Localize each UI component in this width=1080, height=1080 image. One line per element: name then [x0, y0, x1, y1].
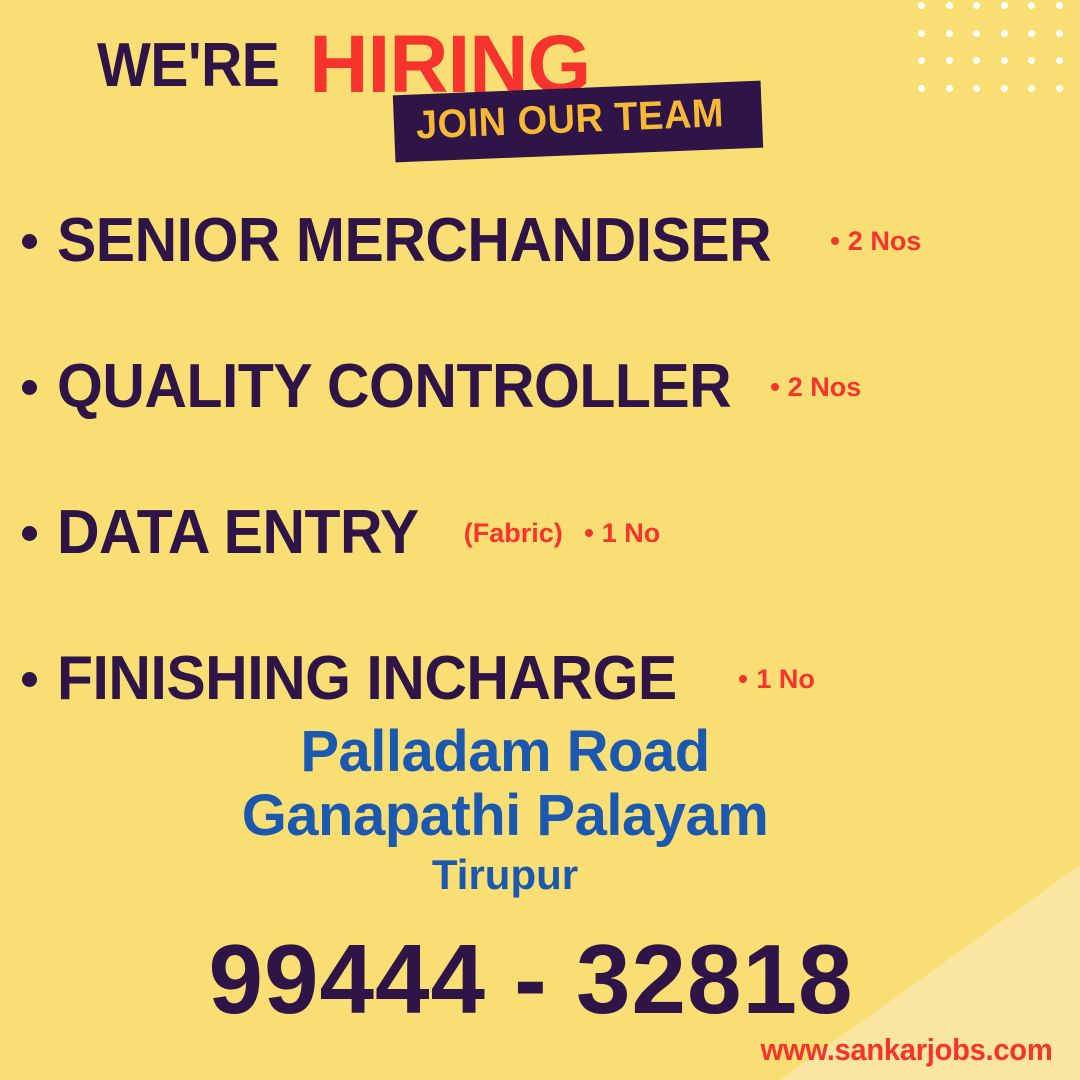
job-count: 1 No	[739, 666, 815, 693]
bullet-icon	[22, 234, 37, 249]
job-count: 1 No	[585, 520, 661, 547]
job-count-label: 1 No	[602, 520, 661, 547]
grid-dot	[973, 30, 980, 37]
grid-dot	[918, 85, 925, 92]
bullet-icon	[22, 526, 37, 541]
grid-dot	[946, 2, 953, 9]
grid-dot	[918, 2, 925, 9]
grid-dot	[918, 57, 925, 64]
grid-dot	[1056, 57, 1063, 64]
job-count: 2 Nos	[831, 228, 922, 255]
grid-dot	[1028, 30, 1035, 37]
grid-dot	[1028, 57, 1035, 64]
job-row: SENIOR MERCHANDISER 2 Nos	[0, 168, 1080, 314]
job-qualifier: (Fabric)	[464, 520, 563, 547]
count-bullet-icon	[585, 529, 593, 537]
job-title: DATA ENTRY	[57, 502, 419, 564]
job-title: FINISHING INCHARGE	[57, 648, 677, 710]
grid-dot	[918, 30, 925, 37]
grid-dot	[1056, 30, 1063, 37]
grid-dot	[1028, 85, 1035, 92]
dot-grid-decoration	[918, 2, 1080, 114]
bullet-icon	[22, 672, 37, 687]
address-block: Palladam Road Ganapathi Palayam Tirupur	[0, 722, 1010, 896]
join-our-team-label: JOIN OUR TEAM	[415, 91, 725, 148]
address-line-1: Palladam Road	[0, 722, 1010, 782]
grid-dot	[973, 85, 980, 92]
count-bullet-icon	[771, 383, 779, 391]
job-list: SENIOR MERCHANDISER 2 Nos QUALITY CONTRO…	[0, 168, 1080, 752]
job-row: DATA ENTRY (Fabric) 1 No	[0, 460, 1080, 606]
grid-dot	[1001, 57, 1008, 64]
job-count: 2 Nos	[771, 374, 862, 401]
grid-dot	[1001, 30, 1008, 37]
grid-dot	[1028, 2, 1035, 9]
job-title: QUALITY CONTROLLER	[57, 356, 731, 418]
grid-dot	[1056, 85, 1063, 92]
website-url: www.sankarjobs.com	[760, 1032, 1052, 1068]
address-line-3: Tirupur	[0, 853, 1010, 897]
job-count-label: 2 Nos	[848, 228, 922, 255]
count-bullet-icon	[831, 237, 839, 245]
grid-dot	[946, 57, 953, 64]
hiring-poster: WE'REHIRING JOIN OUR TEAM SENIOR MERCHAN…	[0, 0, 1080, 1080]
phone-number: 99444 - 32818	[0, 930, 1062, 1028]
grid-dot	[1056, 2, 1063, 9]
job-title: SENIOR MERCHANDISER	[57, 210, 771, 272]
bullet-icon	[22, 380, 37, 395]
grid-dot	[973, 2, 980, 9]
address-line-2: Ganapathi Palayam	[0, 786, 1010, 846]
grid-dot	[946, 30, 953, 37]
grid-dot	[946, 85, 953, 92]
grid-dot	[1001, 85, 1008, 92]
job-row: QUALITY CONTROLLER 2 Nos	[0, 314, 1080, 460]
grid-dot	[973, 57, 980, 64]
headline-were: WE'RE	[97, 30, 279, 101]
job-count-label: 2 Nos	[788, 374, 862, 401]
grid-dot	[1001, 2, 1008, 9]
join-our-team-banner: JOIN OUR TEAM	[393, 81, 764, 163]
job-count-label: 1 No	[756, 666, 815, 693]
count-bullet-icon	[739, 675, 747, 683]
